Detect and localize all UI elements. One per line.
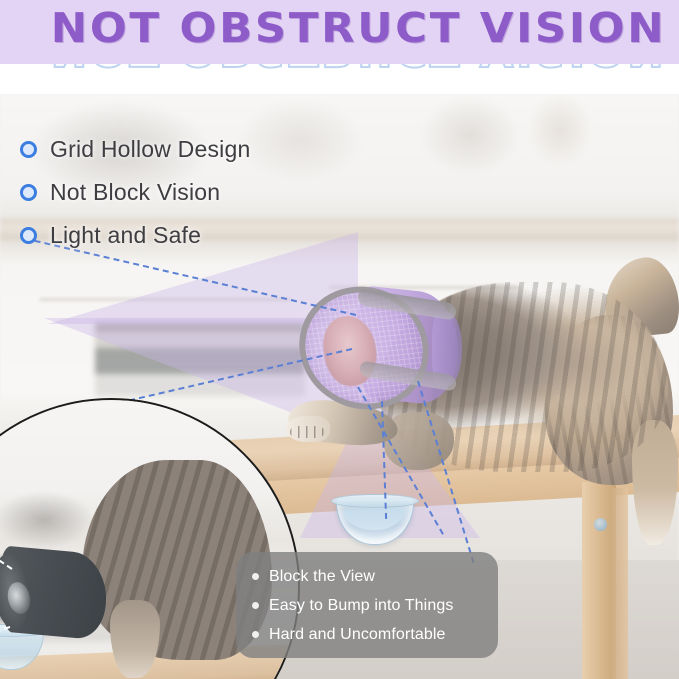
page-title-reflection: NOT OBSTRUCT VISION — [0, 64, 679, 75]
bullet-ring-icon — [20, 141, 37, 158]
feature-label: Not Block Vision — [50, 179, 220, 206]
drawback-list-item: Hard and Uncomfortable — [236, 620, 498, 649]
bullet-dot-icon — [252, 631, 259, 638]
feature-label: Light and Safe — [50, 222, 201, 249]
feature-list-item: Not Block Vision — [20, 171, 250, 214]
drawback-list-item: Block the View — [236, 562, 498, 591]
drawback-label: Block the View — [269, 568, 375, 586]
drawback-label: Hard and Uncomfortable — [269, 626, 446, 644]
bullet-dot-icon — [252, 573, 259, 580]
table-leg-secondary — [612, 488, 628, 679]
drawback-label: Easy to Bump into Things — [269, 597, 453, 615]
table-leg — [582, 482, 616, 679]
page-title: NOT OBSTRUCT VISION — [0, 4, 679, 52]
bullet-dot-icon — [252, 602, 259, 609]
bullet-ring-icon — [20, 227, 37, 244]
glass-bowl-rim — [331, 494, 419, 508]
drawback-list-item: Easy to Bump into Things — [236, 591, 498, 620]
feature-list: Grid Hollow Design Not Block Vision Ligh… — [20, 128, 250, 257]
table-screw — [594, 518, 607, 531]
feature-list-item: Light and Safe — [20, 214, 250, 257]
product-infographic: NOT OBSTRUCT VISION NOT OBSTRUCT VISION — [0, 0, 679, 679]
drawback-callout-box: Block the View Easy to Bump into Things … — [236, 552, 498, 658]
feature-list-item: Grid Hollow Design — [20, 128, 250, 171]
bullet-ring-icon — [20, 184, 37, 201]
feature-label: Grid Hollow Design — [50, 136, 250, 163]
title-reflection-area: NOT OBSTRUCT VISION — [0, 64, 679, 94]
